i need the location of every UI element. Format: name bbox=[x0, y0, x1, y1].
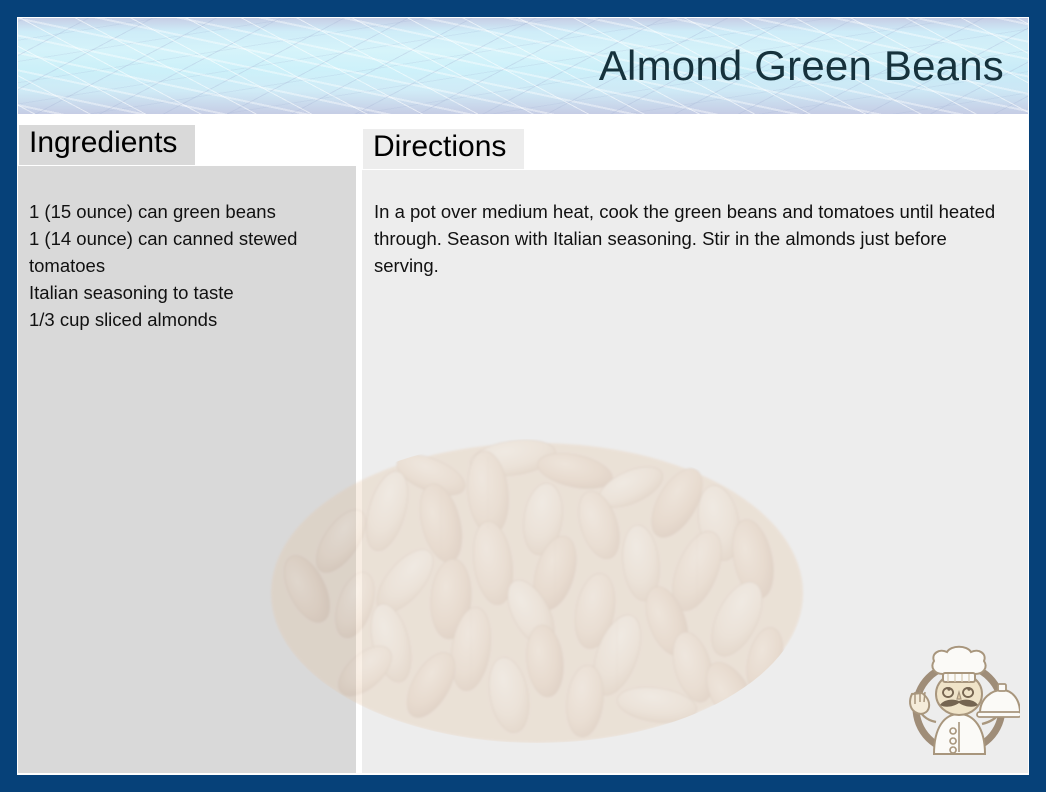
recipe-card: Almond Green Beans Ingredients 1 (15 oun… bbox=[0, 0, 1046, 792]
directions-heading: Directions bbox=[363, 129, 524, 169]
page-title: Almond Green Beans bbox=[599, 42, 1004, 90]
ingredients-panel: Ingredients 1 (15 ounce) can green beans… bbox=[18, 166, 356, 773]
header-banner: Almond Green Beans bbox=[18, 18, 1028, 114]
directions-text: In a pot over medium heat, cook the gree… bbox=[374, 198, 998, 279]
ingredients-list: 1 (15 ounce) can green beans 1 (14 ounce… bbox=[29, 198, 348, 333]
ingredients-heading: Ingredients bbox=[19, 125, 195, 165]
chef-mascot-logo bbox=[898, 642, 1020, 764]
